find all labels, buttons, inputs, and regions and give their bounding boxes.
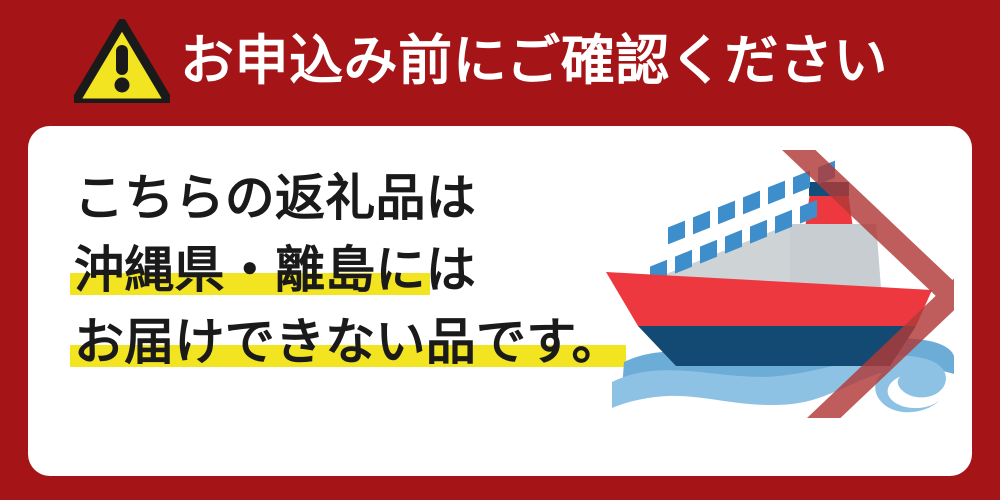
ship-icon	[604, 150, 954, 418]
notice-line-2-segment-2: は	[426, 241, 476, 299]
notice-line-2: 沖縄県・離島には	[74, 234, 634, 306]
window	[718, 201, 735, 225]
shipping-restriction-banner: お申込み前にご確認ください こちらの返礼品は 沖縄県・離島には お届けできない品…	[0, 0, 1000, 500]
notice-line-2-segment-1: 沖縄県・離島に	[74, 241, 426, 299]
window	[793, 171, 810, 195]
notice-line-1: こちらの返礼品は	[74, 162, 634, 234]
window	[693, 211, 710, 235]
banner-header: お申込み前にご確認ください	[0, 0, 1000, 122]
notice-line-3: お届けできない品です。	[74, 306, 634, 378]
ship-prohibited-illustration	[604, 150, 954, 418]
notice-line-3-highlight: お届けできない品です。	[74, 306, 622, 378]
window	[768, 181, 785, 205]
window	[743, 191, 760, 215]
notice-text-block: こちらの返礼品は 沖縄県・離島には お届けできない品です。	[74, 162, 634, 378]
notice-card: こちらの返礼品は 沖縄県・離島には お届けできない品です。	[28, 126, 972, 476]
notice-line-1-segment-1: こちらの返礼品は	[74, 169, 476, 227]
notice-line-2-highlight: 沖縄県・離島に	[74, 234, 426, 306]
warning-triangle-icon	[74, 19, 170, 103]
notice-line-3-segment-1: お届けできない品です。	[74, 313, 622, 371]
page-title: お申込み前にご確認ください	[180, 34, 888, 88]
window	[668, 221, 685, 245]
